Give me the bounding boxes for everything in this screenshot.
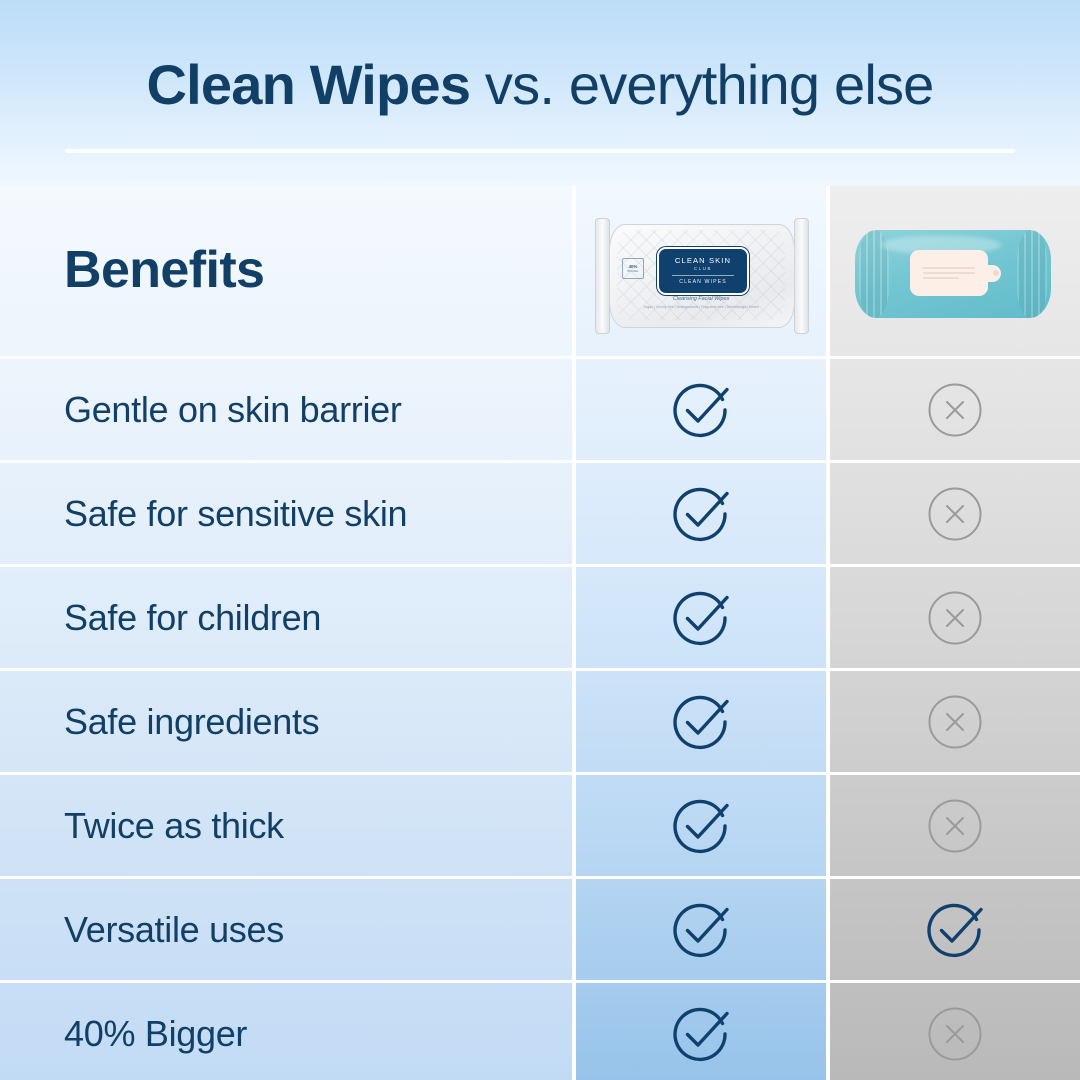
row-separator (0, 356, 1080, 359)
product-cell (576, 359, 826, 460)
competitor-label-dot (993, 270, 999, 276)
product-cell (576, 983, 826, 1080)
table-row: Gentle on skin barrier (0, 359, 1080, 460)
check-circle-icon (670, 899, 732, 961)
comparison-chart-page: Clean Wipes vs. everything else Benefits… (0, 0, 1080, 1080)
feature-label: Versatile uses (64, 879, 284, 980)
page-title-bold: Clean Wipes (146, 53, 470, 116)
row-separator (0, 980, 1080, 983)
row-separator (0, 668, 1080, 671)
product-cell (576, 671, 826, 772)
package-fine-print: Vegan | Cruelty-free | Biodegradable | F… (641, 305, 761, 310)
package-label: CLEAN SKIN CLUB CLEAN WIPES (657, 247, 749, 295)
table-row: 40% Bigger (0, 983, 1080, 1080)
other-cell (830, 463, 1080, 564)
check-circle-icon (924, 899, 986, 961)
page-title-regular: vs. everything else (470, 53, 933, 116)
cross-circle-icon (926, 1005, 984, 1063)
competitor-label-line (923, 267, 975, 269)
cross-circle-icon (926, 381, 984, 439)
product-cell (576, 567, 826, 668)
package-script-text: Cleansing Facial Wipes (651, 296, 751, 303)
badge-bigger-text: BIGGER (628, 269, 639, 273)
competitor-label-line (923, 272, 975, 274)
page-title: Clean Wipes vs. everything else (0, 52, 1080, 118)
package-brand-line2: CLUB (694, 265, 712, 272)
competitor-label-lines (923, 267, 975, 282)
check-circle-icon (670, 795, 732, 857)
package-label-rule (672, 275, 734, 276)
feature-label: 40% Bigger (64, 983, 247, 1080)
product-cell (576, 879, 826, 980)
other-cell (830, 983, 1080, 1080)
product-package-image: 40% BIGGER CLEAN SKIN CLUB CLEAN WIPES C… (595, 216, 807, 334)
package-brand-line1: CLEAN SKIN (675, 256, 731, 265)
product-cell (576, 463, 826, 564)
check-circle-icon (670, 483, 732, 545)
row-separator (0, 460, 1080, 463)
row-separator (0, 876, 1080, 879)
row-separator (0, 772, 1080, 775)
table-header-row: Benefits 40% BIGGER CLEAN SKIN CLUB CLEA… (0, 186, 1080, 359)
check-circle-icon (670, 691, 732, 753)
package-product-name: CLEAN WIPES (679, 279, 727, 286)
row-separator (0, 564, 1080, 567)
package-gusset-left (595, 218, 610, 334)
competitor-package-image (855, 224, 1051, 324)
feature-label: Safe for children (64, 567, 321, 668)
table-row: Safe for sensitive skin (0, 463, 1080, 564)
cross-circle-icon (926, 693, 984, 751)
title-divider (65, 149, 1015, 153)
competitor-label-line (923, 277, 959, 279)
other-cell (830, 671, 1080, 772)
comparison-table: Benefits 40% BIGGER CLEAN SKIN CLUB CLEA… (0, 186, 1080, 1080)
table-row: Twice as thick (0, 775, 1080, 876)
table-row: Safe ingredients (0, 671, 1080, 772)
feature-label: Gentle on skin barrier (64, 359, 402, 460)
feature-label: Safe ingredients (64, 671, 319, 772)
product-cell (576, 775, 826, 876)
other-cell (830, 879, 1080, 980)
other-cell (830, 359, 1080, 460)
competitor-pleat-right (1017, 230, 1047, 318)
check-circle-icon (670, 1003, 732, 1065)
feature-label: Twice as thick (64, 775, 284, 876)
cross-circle-icon (926, 485, 984, 543)
cross-circle-icon (926, 589, 984, 647)
package-gusset-right (794, 218, 809, 334)
check-circle-icon (670, 379, 732, 441)
table-row: Safe for children (0, 567, 1080, 668)
package-bigger-badge: 40% BIGGER (622, 258, 644, 279)
cross-circle-icon (926, 797, 984, 855)
check-circle-icon (670, 587, 732, 649)
feature-label: Safe for sensitive skin (64, 463, 407, 564)
other-cell (830, 775, 1080, 876)
page-header: Clean Wipes vs. everything else (0, 0, 1080, 186)
benefits-heading: Benefits (64, 239, 264, 301)
table-row: Versatile uses (0, 879, 1080, 980)
other-cell (830, 567, 1080, 668)
